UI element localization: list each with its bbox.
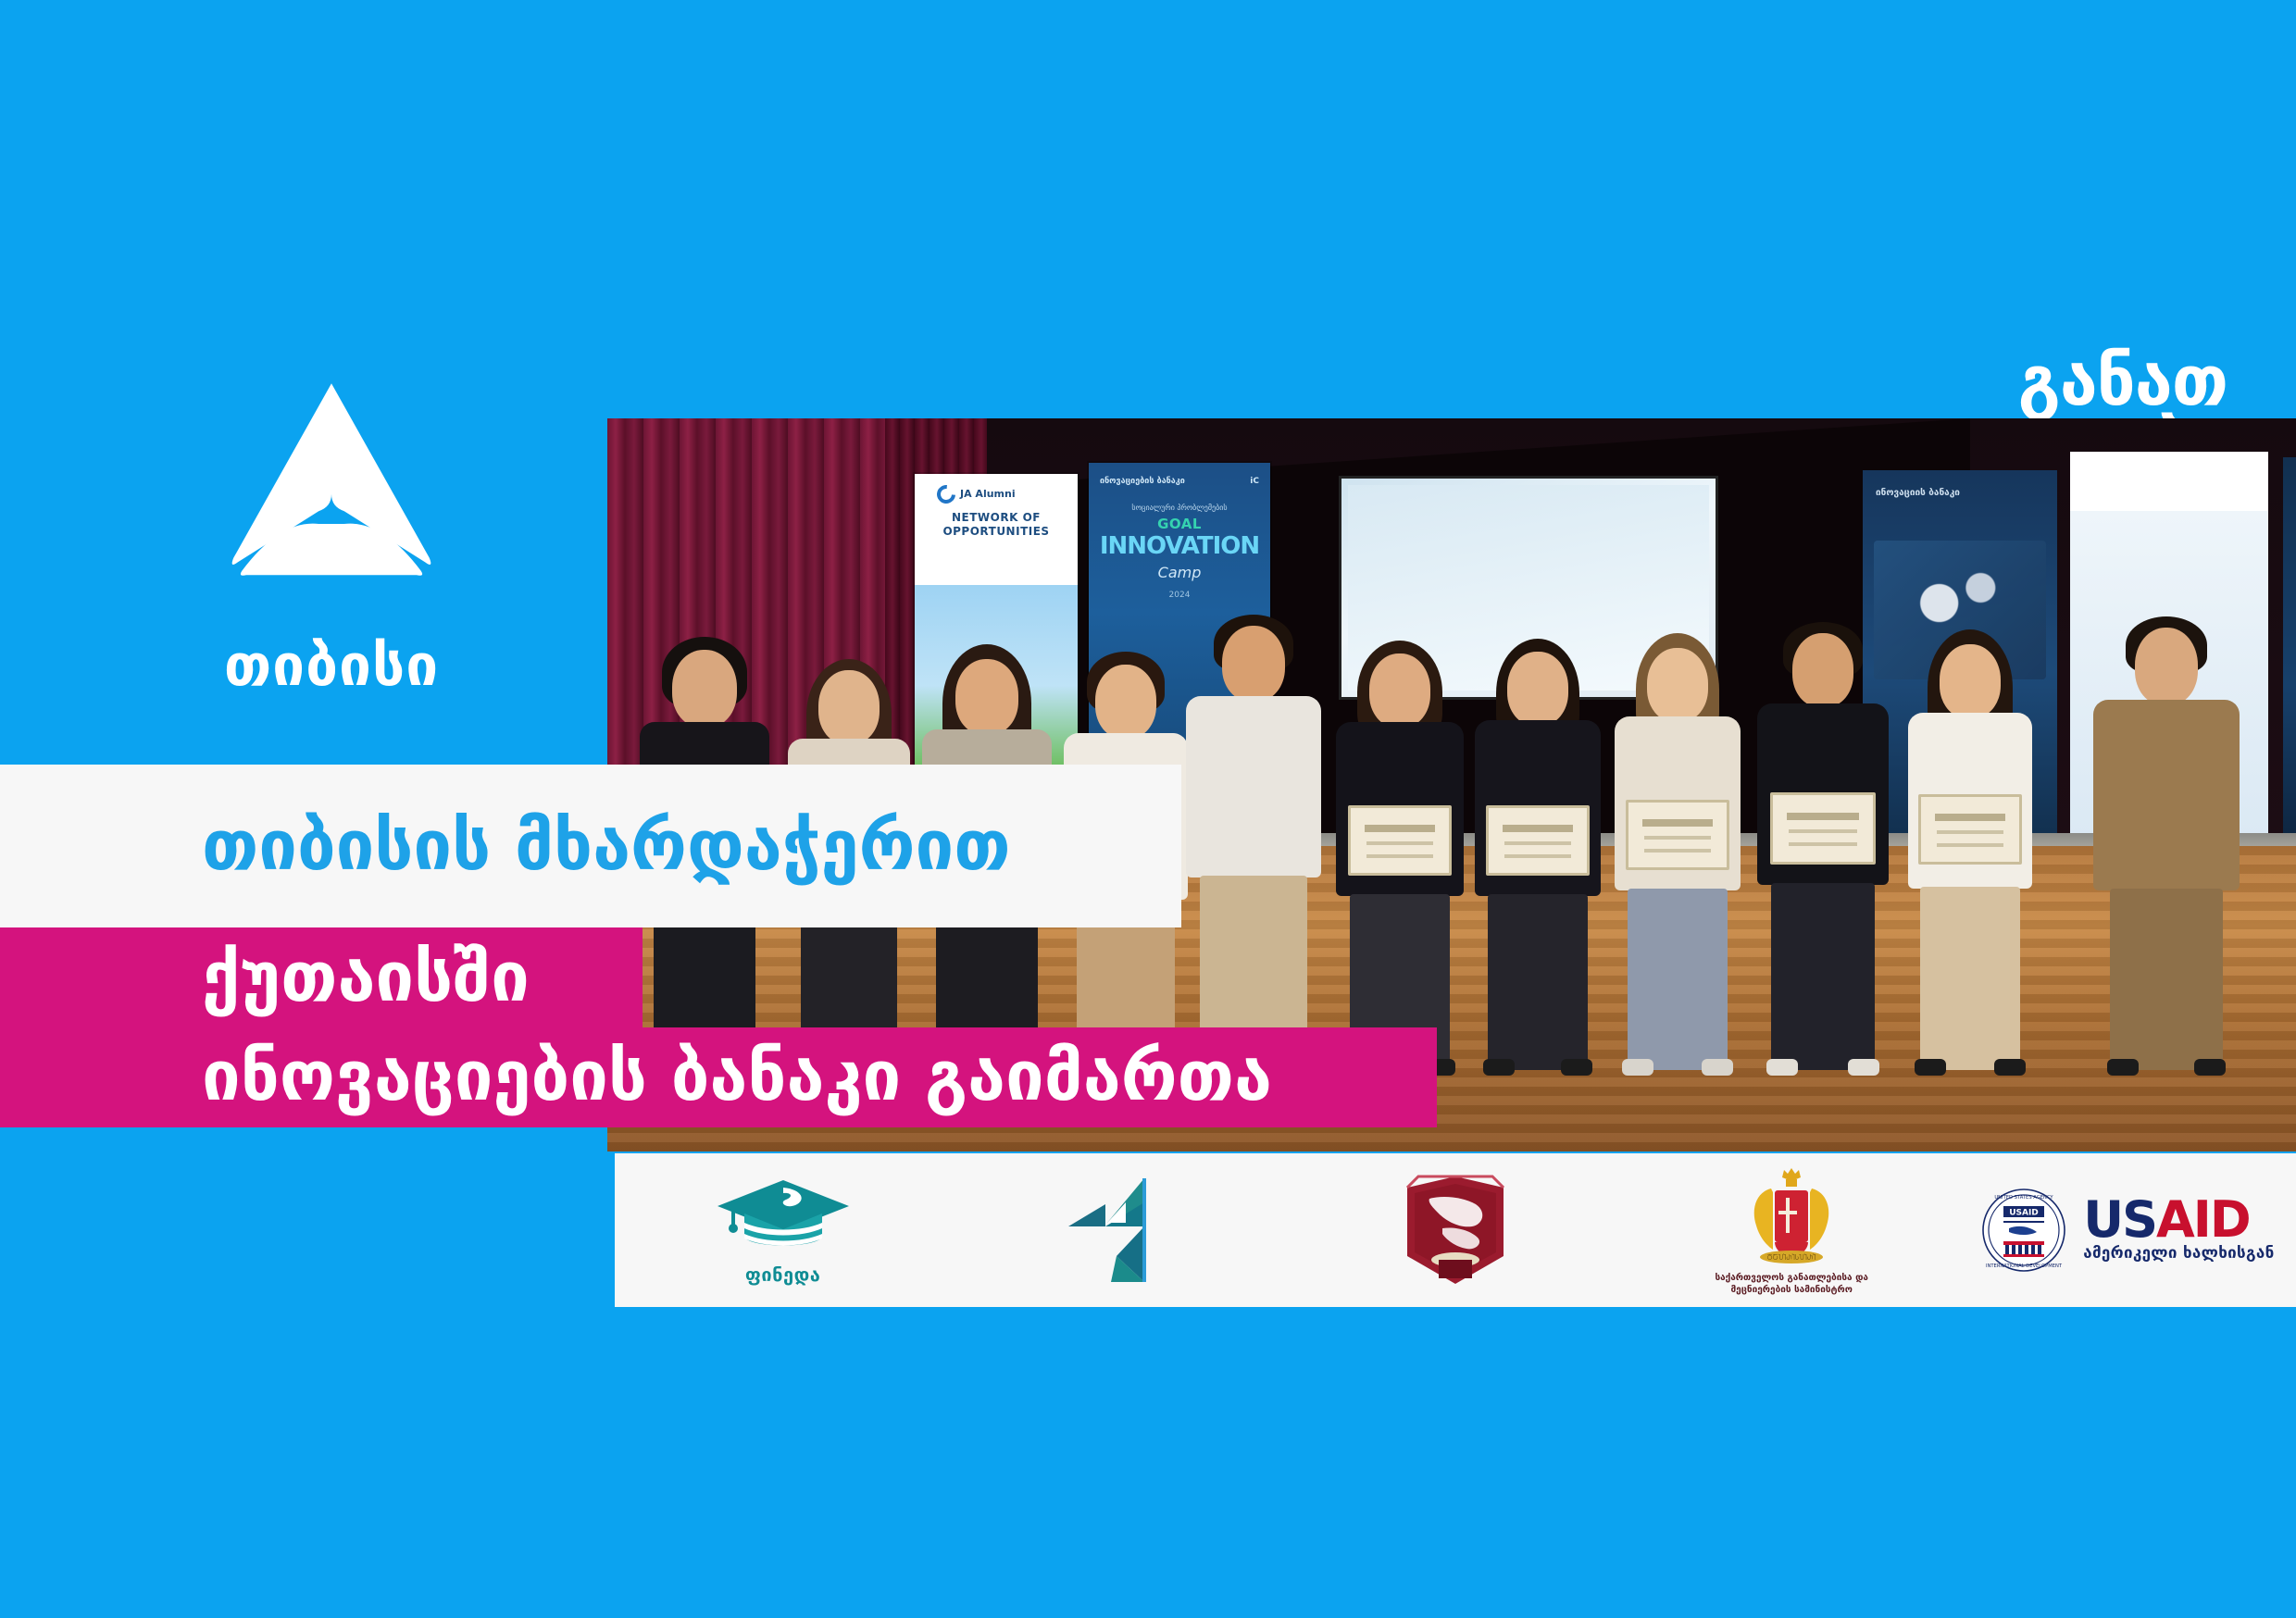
student-8 [1607,633,1748,1072]
usaid-tagline: ამერიკელი ხალხისგან [2083,1244,2274,1263]
svg-text:INTERNATIONAL DEVELOPMENT: INTERNATIONAL DEVELOPMENT [1986,1263,2063,1269]
innovation-ic-badge: iC [1250,478,1259,487]
student-6 [1329,639,1470,1072]
triangle-mosaic-icon [1068,1175,1170,1286]
partner-logo-triangles [951,1153,1287,1307]
tbc-logo: თიბისი [211,370,452,694]
ja-alumni-icon [933,481,959,507]
headline-banner-pink-1: ქუთაისში [0,927,643,1029]
headline-banner-pink-2: ინოვაციების ბანაკი გაიმართა [0,1027,1437,1127]
usaid-seal-icon: UNITED STATES AGENCY INTERNATIONAL DEVEL… [1981,1188,2066,1273]
georgia-coat-of-arms-icon: ႣႠႮႨႰႨႱႮႨႰႨ [1734,1164,1849,1268]
partner-logo-university-crest [1287,1153,1623,1307]
student-10 [1900,629,2040,1072]
ministry-label: საქართველოს განათლებისა და მეცნიერების ს… [1694,1273,1889,1296]
student-11 [2089,616,2244,1072]
innovation-small-mid: სოციალური პრობლემების [1096,504,1263,513]
partner-logo-usaid: UNITED STATES AGENCY INTERNATIONAL DEVEL… [1960,1153,2296,1307]
tbc-triangle-logo-icon [225,370,438,592]
graduation-cap-icon [714,1175,853,1260]
svg-text:UNITED STATES AGENCY: UNITED STATES AGENCY [1995,1195,2054,1201]
partner-logo-strip: ფინედა [615,1153,2296,1307]
university-crest-icon [1391,1171,1520,1289]
usaid-word-aid: AID [2156,1190,2250,1249]
ganatleba-line1: განათ [1922,350,2227,413]
headline-pink-text-1: ქუთაისში [0,927,643,1027]
headline-white-text: თიბისის მხარდაჭერით [0,812,1011,880]
usaid-word-us: US [2083,1190,2156,1249]
student-7 [1468,637,1607,1072]
headline-pink-text-2: ინოვაციების ბანაკი გაიმართა [0,1027,1437,1126]
ja-alumni-logo-text: JA Alumni [960,489,1016,500]
student-5 [1181,615,1326,1072]
tbc-wordmark: თიბისი [211,637,452,694]
headline-banner-white: თიბისის მხარდაჭერით [0,765,1181,927]
banner-partner-left-text: ინოვაციის ბანაკი [1863,470,2057,500]
partner-logo-ministry: ႣႠႮႨႰႨႱႮႨႰႨ საქართველოს განათლებისა და მ… [1624,1153,1960,1307]
pinedza-label: ფინედა [745,1263,821,1286]
partner-logo-pinedza: ფინედა [615,1153,951,1307]
svg-text:ႣႠႮႨႰႨႱႮႨႰႨ: ႣႠႮႨႰႨႱႮႨႰႨ [1767,1253,1816,1262]
banner-partner-right-text: ინოვაციის ბანაკი [2283,457,2296,484]
innovation-small-top: ინოვაციების ბანაკი [1100,478,1185,487]
student-9 [1752,622,1894,1072]
svg-text:USAID: USAID [2009,1209,2039,1218]
